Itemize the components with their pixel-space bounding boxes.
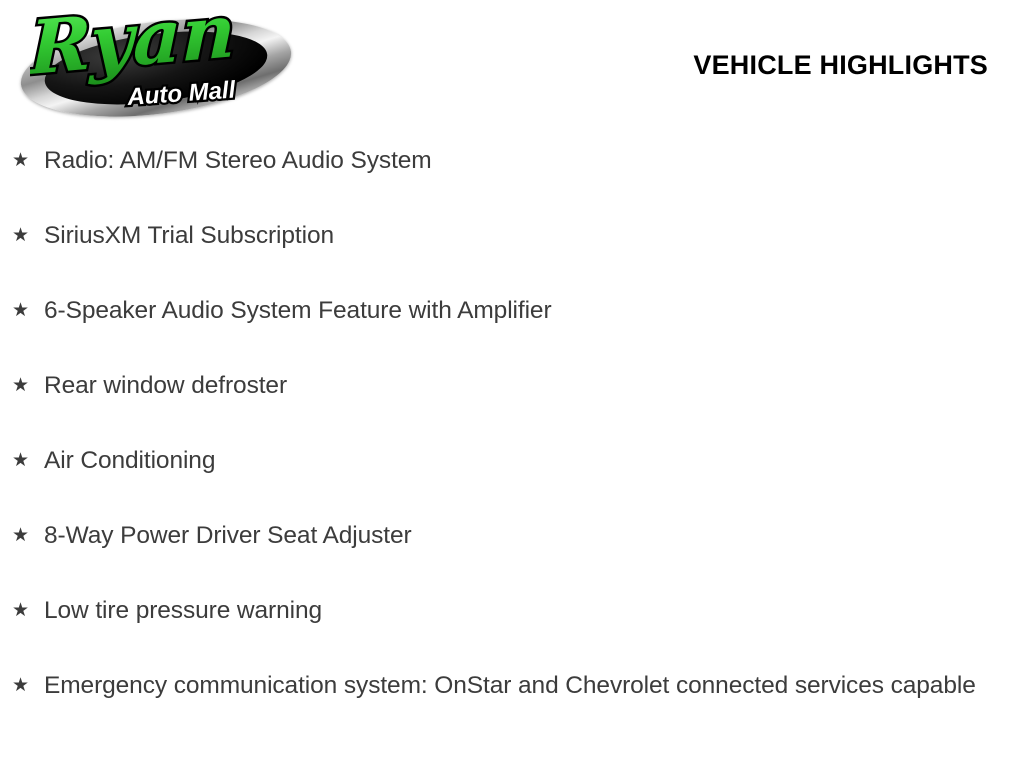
list-item-label: Radio: AM/FM Stereo Audio System [44, 144, 1024, 177]
list-item-label: Low tire pressure warning [44, 594, 1024, 627]
list-item-label: 6-Speaker Audio System Feature with Ampl… [44, 294, 1024, 327]
list-item-label: SiriusXM Trial Subscription [44, 219, 1024, 252]
list-item: ★ Radio: AM/FM Stereo Audio System [0, 144, 1024, 219]
list-item: ★ Low tire pressure warning [0, 594, 1024, 669]
list-item-label: Air Conditioning [44, 444, 1024, 477]
star-icon: ★ [12, 594, 44, 627]
list-item: ★ 6-Speaker Audio System Feature with Am… [0, 294, 1024, 369]
list-item: ★ Emergency communication system: OnStar… [0, 669, 1024, 744]
dealer-logo: Ryan Auto Mall [20, 8, 292, 122]
list-item: ★ Air Conditioning [0, 444, 1024, 519]
list-item-label: Emergency communication system: OnStar a… [44, 669, 1024, 702]
list-item-label: 8-Way Power Driver Seat Adjuster [44, 519, 1024, 552]
star-icon: ★ [12, 519, 44, 552]
list-item-label: Rear window defroster [44, 369, 1024, 402]
star-icon: ★ [12, 369, 44, 402]
page-header: Ryan Auto Mall VEHICLE HIGHLIGHTS [0, 0, 1024, 132]
star-icon: ★ [12, 294, 44, 327]
list-item: ★ Rear window defroster [0, 369, 1024, 444]
star-icon: ★ [12, 219, 44, 252]
list-item: ★ SiriusXM Trial Subscription [0, 219, 1024, 294]
list-item: ★ 8-Way Power Driver Seat Adjuster [0, 519, 1024, 594]
star-icon: ★ [12, 144, 44, 177]
logo-automall-text: Auto Mall [124, 80, 294, 114]
page-title: VEHICLE HIGHLIGHTS [693, 50, 988, 81]
star-icon: ★ [12, 669, 44, 702]
vehicle-highlights-list: ★ Radio: AM/FM Stereo Audio System ★ Sir… [0, 144, 1024, 744]
star-icon: ★ [12, 444, 44, 477]
svg-text:Auto Mall: Auto Mall [126, 80, 238, 111]
